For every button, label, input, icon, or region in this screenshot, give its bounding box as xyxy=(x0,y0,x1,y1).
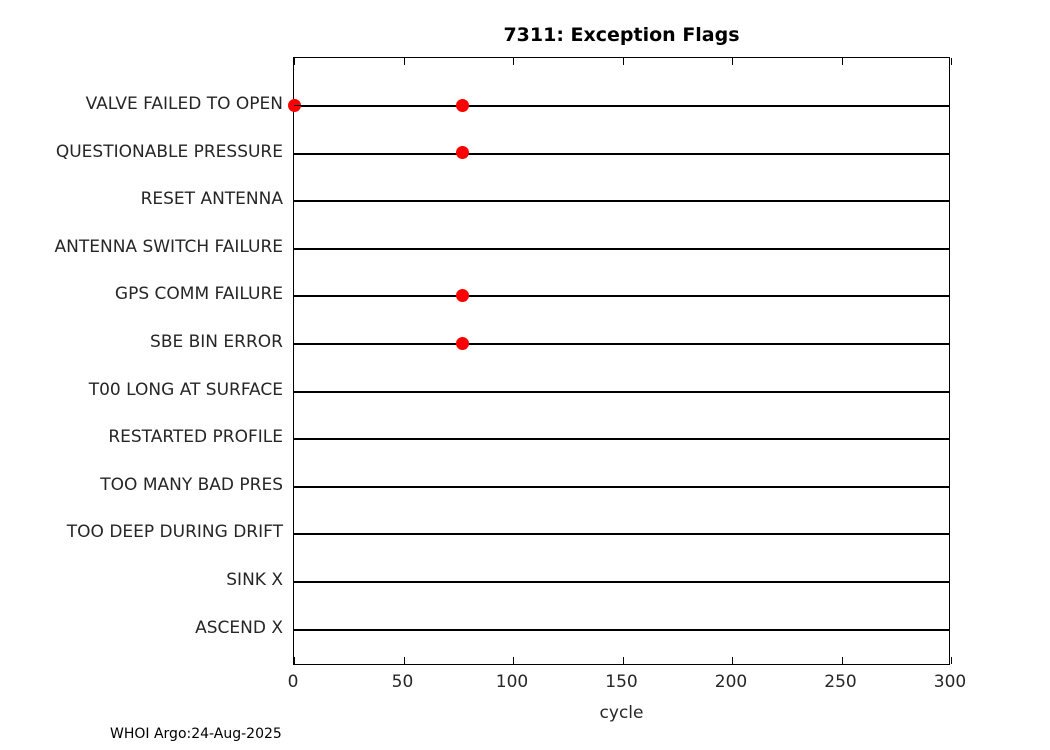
y-tick-mark xyxy=(294,533,301,534)
y-tick-label: VALVE FAILED TO OPEN xyxy=(0,94,283,114)
data-point-marker xyxy=(456,99,469,112)
x-tick-mark xyxy=(513,657,514,664)
x-tick-mark-top xyxy=(294,58,295,65)
y-tick-mark xyxy=(294,153,301,154)
x-tick-label: 250 xyxy=(824,672,856,692)
x-tick-mark xyxy=(732,657,733,664)
x-tick-mark-top xyxy=(842,58,843,65)
y-tick-label: RESET ANTENNA xyxy=(0,189,283,209)
category-line xyxy=(294,486,949,488)
x-tick-label: 300 xyxy=(934,672,966,692)
y-tick-mark xyxy=(294,486,301,487)
x-tick-label: 100 xyxy=(496,672,528,692)
y-tick-mark xyxy=(294,200,301,201)
category-line xyxy=(294,105,949,107)
category-line xyxy=(294,391,949,393)
y-tick-mark xyxy=(294,629,301,630)
x-tick-label: 50 xyxy=(392,672,414,692)
y-tick-label: QUESTIONABLE PRESSURE xyxy=(0,142,283,162)
category-line xyxy=(294,438,949,440)
x-tick-mark-top xyxy=(513,58,514,65)
exception-flags-figure: 7311: Exception Flags VALVE FAILED TO OP… xyxy=(0,0,1050,750)
x-tick-label: 150 xyxy=(605,672,637,692)
category-line xyxy=(294,295,949,297)
y-tick-label: SINK X xyxy=(0,570,283,590)
y-tick-label: TOO DEEP DURING DRIFT xyxy=(0,522,283,542)
x-tick-label: 0 xyxy=(288,672,299,692)
y-tick-mark xyxy=(294,105,301,106)
y-tick-mark xyxy=(294,248,301,249)
y-tick-label: RESTARTED PROFILE xyxy=(0,427,283,447)
x-axis-title: cycle xyxy=(293,703,950,723)
plot-area xyxy=(293,57,950,665)
y-tick-label: ASCEND X xyxy=(0,618,283,638)
y-tick-label: TOO MANY BAD PRES xyxy=(0,475,283,495)
category-line xyxy=(294,248,949,250)
x-tick-mark-top xyxy=(404,58,405,65)
data-point-marker xyxy=(456,337,469,350)
y-tick-mark xyxy=(294,391,301,392)
y-tick-label: ANTENNA SWITCH FAILURE xyxy=(0,237,283,257)
category-line xyxy=(294,200,949,202)
x-tick-mark-top xyxy=(732,58,733,65)
x-tick-mark xyxy=(623,657,624,664)
page-title: 7311: Exception Flags xyxy=(293,24,950,46)
x-tick-mark xyxy=(951,657,952,664)
x-tick-mark-top xyxy=(951,58,952,65)
y-tick-mark xyxy=(294,438,301,439)
footer-note: WHOI Argo:24-Aug-2025 xyxy=(110,726,282,742)
y-tick-mark xyxy=(294,343,301,344)
category-line xyxy=(294,533,949,535)
x-tick-mark xyxy=(842,657,843,664)
category-line xyxy=(294,581,949,583)
category-line xyxy=(294,343,949,345)
category-line xyxy=(294,629,949,631)
y-tick-label: GPS COMM FAILURE xyxy=(0,284,283,304)
y-tick-label: T00 LONG AT SURFACE xyxy=(0,380,283,400)
y-tick-mark xyxy=(294,295,301,296)
x-tick-mark xyxy=(294,657,295,664)
x-tick-mark-top xyxy=(623,58,624,65)
category-line xyxy=(294,153,949,155)
y-tick-label: SBE BIN ERROR xyxy=(0,332,283,352)
y-tick-mark xyxy=(294,581,301,582)
x-tick-label: 200 xyxy=(715,672,747,692)
x-tick-mark xyxy=(404,657,405,664)
data-point-marker xyxy=(456,146,469,159)
data-point-marker xyxy=(456,289,469,302)
